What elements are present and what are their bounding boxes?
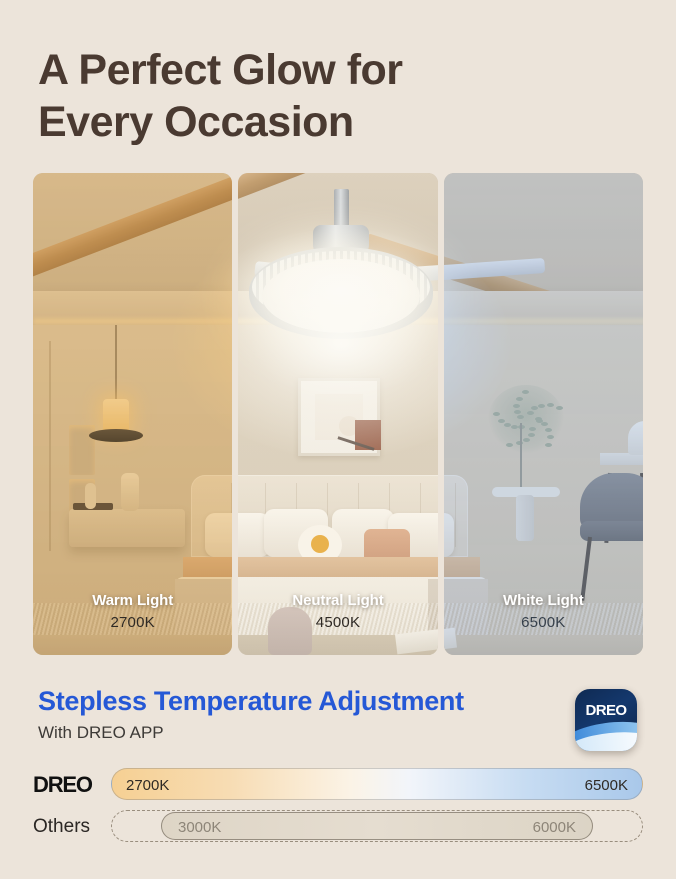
bedroom-scene (33, 173, 232, 655)
dreo-app-icon[interactable]: DREO (575, 689, 637, 751)
plant-leaf (531, 406, 538, 410)
plant-leaf (517, 415, 524, 419)
pendant-cord (115, 325, 117, 403)
plant-leaf (556, 406, 563, 410)
bedroom-scene (238, 173, 437, 655)
plant-leaf (522, 390, 529, 394)
feature-title: Stepless Temperature Adjustment (38, 686, 464, 717)
pendant-ring (89, 429, 143, 442)
wall-art-canvas (315, 394, 363, 440)
figurine (121, 473, 139, 511)
panel-title: White Light (444, 592, 643, 609)
plant-stem (520, 423, 522, 489)
fan-downrod (334, 189, 349, 229)
panel-caption-neutral: Neutral Light 4500K (238, 592, 437, 631)
plant-leaf (514, 410, 521, 414)
plant-leaf (528, 433, 535, 437)
wall-art (298, 378, 380, 456)
page-title-line-2: Every Occasion (38, 96, 598, 148)
plant-leaf (545, 443, 552, 447)
panel-kelvin: 6500K (444, 614, 643, 631)
side-table-leg (516, 495, 534, 541)
plant-leaf (545, 428, 552, 432)
floor (444, 635, 643, 655)
floor (33, 635, 232, 655)
bedroom-scene (444, 173, 643, 655)
plant-leaf (547, 435, 554, 439)
comparison-row-dreo: DREO 2700K 6500K (33, 768, 643, 802)
comparison-row-others: Others 3000K 6000K (33, 810, 643, 844)
plant-leaf (527, 411, 534, 415)
page-title-line-1: A Perfect Glow for (38, 46, 403, 94)
plant-leaf (498, 419, 505, 423)
panel-title: Warm Light (33, 592, 232, 609)
others-max-kelvin: 6000K (533, 813, 576, 841)
panel-warm-light: Warm Light 2700K (33, 173, 232, 655)
others-min-kelvin: 3000K (178, 813, 221, 841)
plant-leaf (506, 443, 513, 447)
dreo-temperature-track[interactable]: 2700K 6500K (111, 768, 643, 800)
pillow (444, 513, 454, 557)
wall-panel-line (49, 341, 51, 551)
app-icon-wordmark: DREO (575, 702, 637, 719)
pillow (205, 513, 232, 557)
plant-leaf (523, 438, 530, 442)
others-temperature-track: 3000K 6000K (161, 812, 593, 840)
temperature-range-comparison: DREO 2700K 6500K Others 3000K 6000K (33, 768, 643, 852)
nightstand (69, 509, 185, 547)
panel-caption-warm: Warm Light 2700K (33, 592, 232, 631)
brand-label-dreo: DREO (33, 768, 92, 802)
plant-leaf (538, 404, 545, 408)
pendant-lamp-icon (103, 399, 129, 433)
plant-leaf (529, 427, 536, 431)
light-lens (262, 259, 420, 333)
panel-kelvin: 2700K (33, 614, 232, 631)
feature-subtitle: With DREO APP (38, 723, 164, 743)
plant-leaf (516, 397, 523, 401)
plant-leaf (513, 404, 520, 408)
panel-neutral-light: Neutral Light 4500K (238, 173, 437, 655)
plant-leaf (511, 425, 518, 429)
plant-leaf (504, 423, 511, 427)
plant-leaf (493, 412, 500, 416)
dreo-max-kelvin: 6500K (585, 769, 628, 801)
dreo-min-kelvin: 2700K (126, 769, 169, 801)
light-temperature-panels: Warm Light 2700K (33, 173, 643, 655)
plant-leaf (541, 422, 548, 426)
vase (85, 483, 96, 509)
plant-foliage (488, 385, 564, 453)
panel-title: Neutral Light (238, 592, 437, 609)
plant-leaf (547, 403, 554, 407)
brand-label-others: Others (33, 810, 90, 844)
panel-caption-white: White Light 6500K (444, 592, 643, 631)
panel-kelvin: 4500K (238, 614, 437, 631)
panel-white-light: White Light 6500K (444, 173, 643, 655)
page-title: A Perfect Glow for Every Occasion (38, 44, 598, 149)
